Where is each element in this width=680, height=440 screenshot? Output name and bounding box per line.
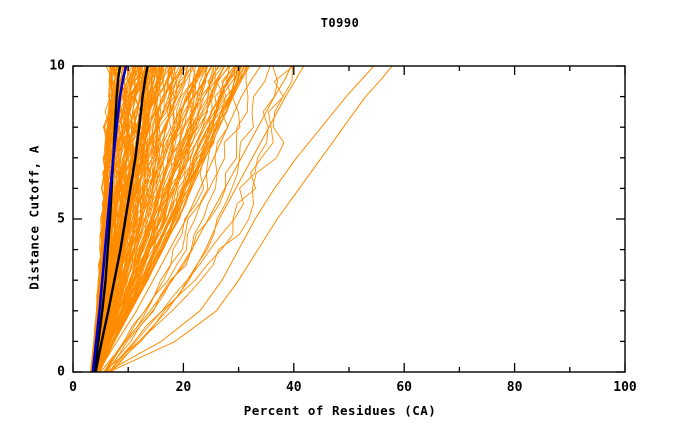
x-tick-label: 100 xyxy=(613,380,636,395)
x-tick-label: 0 xyxy=(69,380,77,395)
y-tick-label: 10 xyxy=(35,59,65,74)
curves-layer xyxy=(91,66,392,372)
chart-root: T0990 Distance Cutoff, A Percent of Resi… xyxy=(0,0,680,440)
x-tick-label: 20 xyxy=(176,380,192,395)
x-tick-label: 60 xyxy=(396,380,412,395)
y-tick-label: 0 xyxy=(35,365,65,380)
y-tick-label: 5 xyxy=(35,212,65,227)
plot-canvas xyxy=(0,0,680,440)
x-tick-label: 40 xyxy=(286,380,302,395)
x-tick-label: 80 xyxy=(507,380,523,395)
